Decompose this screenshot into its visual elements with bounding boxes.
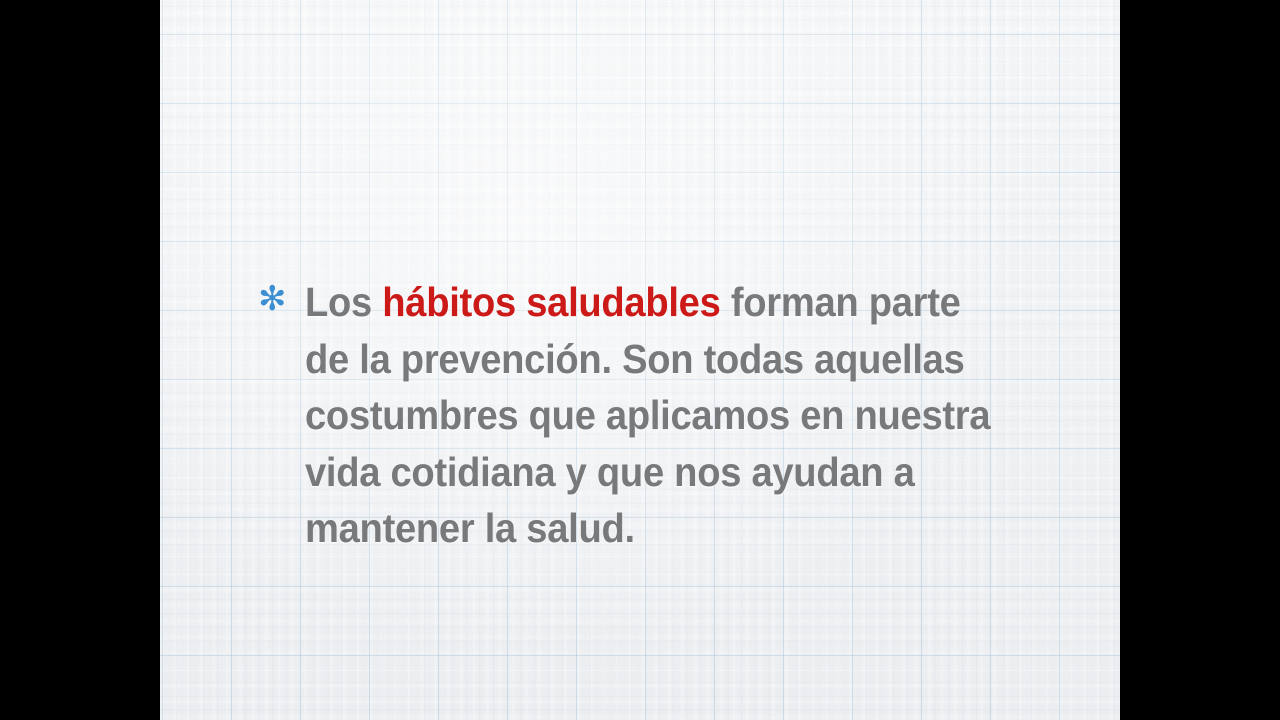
asterisk-bullet-icon: ✻ xyxy=(258,274,305,324)
bullet-paragraph: Los hábitos saludables forman parte de l… xyxy=(305,274,996,557)
bullet-block: ✻ Los hábitos saludables forman parte de… xyxy=(258,274,1048,557)
highlighted-term: hábitos saludables xyxy=(382,279,720,325)
text-before-highlight: Los xyxy=(305,279,382,325)
slide-stage: ✻ Los hábitos saludables forman parte de… xyxy=(0,0,1280,720)
letterbox-left xyxy=(0,0,160,720)
letterbox-right xyxy=(1120,0,1280,720)
bullet-list-item: ✻ Los hábitos saludables forman parte de… xyxy=(258,274,1048,557)
slide-canvas: ✻ Los hábitos saludables forman parte de… xyxy=(160,0,1120,720)
